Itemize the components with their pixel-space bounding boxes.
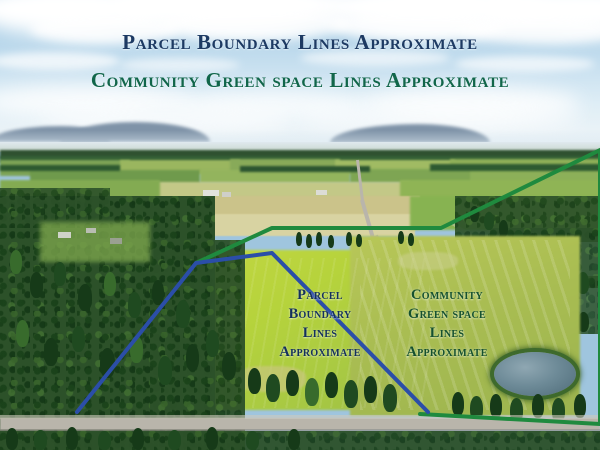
map-label-greenspace-line-4: Approximate (386, 343, 508, 362)
map-label-parcel-line-1: Parcel (258, 286, 382, 305)
header-parcel-disclaimer: Parcel Boundary Lines Approximate (0, 30, 600, 55)
map-label-greenspace-line-2: Green space (386, 305, 508, 324)
map-label-greenspace: Community Green space Lines Approximate (386, 286, 508, 362)
aerial-parcel-screenshot: Parcel Boundary Lines Approximate Commun… (0, 0, 600, 450)
map-label-parcel: Parcel Boundary Lines Approximate (258, 286, 382, 362)
header-greenspace-disclaimer: Community Green space Lines Approximate (0, 68, 600, 93)
map-label-parcel-line-3: Lines (258, 324, 382, 343)
map-label-greenspace-line-3: Lines (386, 324, 508, 343)
map-label-parcel-line-4: Approximate (258, 343, 382, 362)
map-label-greenspace-line-1: Community (386, 286, 508, 305)
map-label-parcel-line-2: Boundary (258, 305, 382, 324)
